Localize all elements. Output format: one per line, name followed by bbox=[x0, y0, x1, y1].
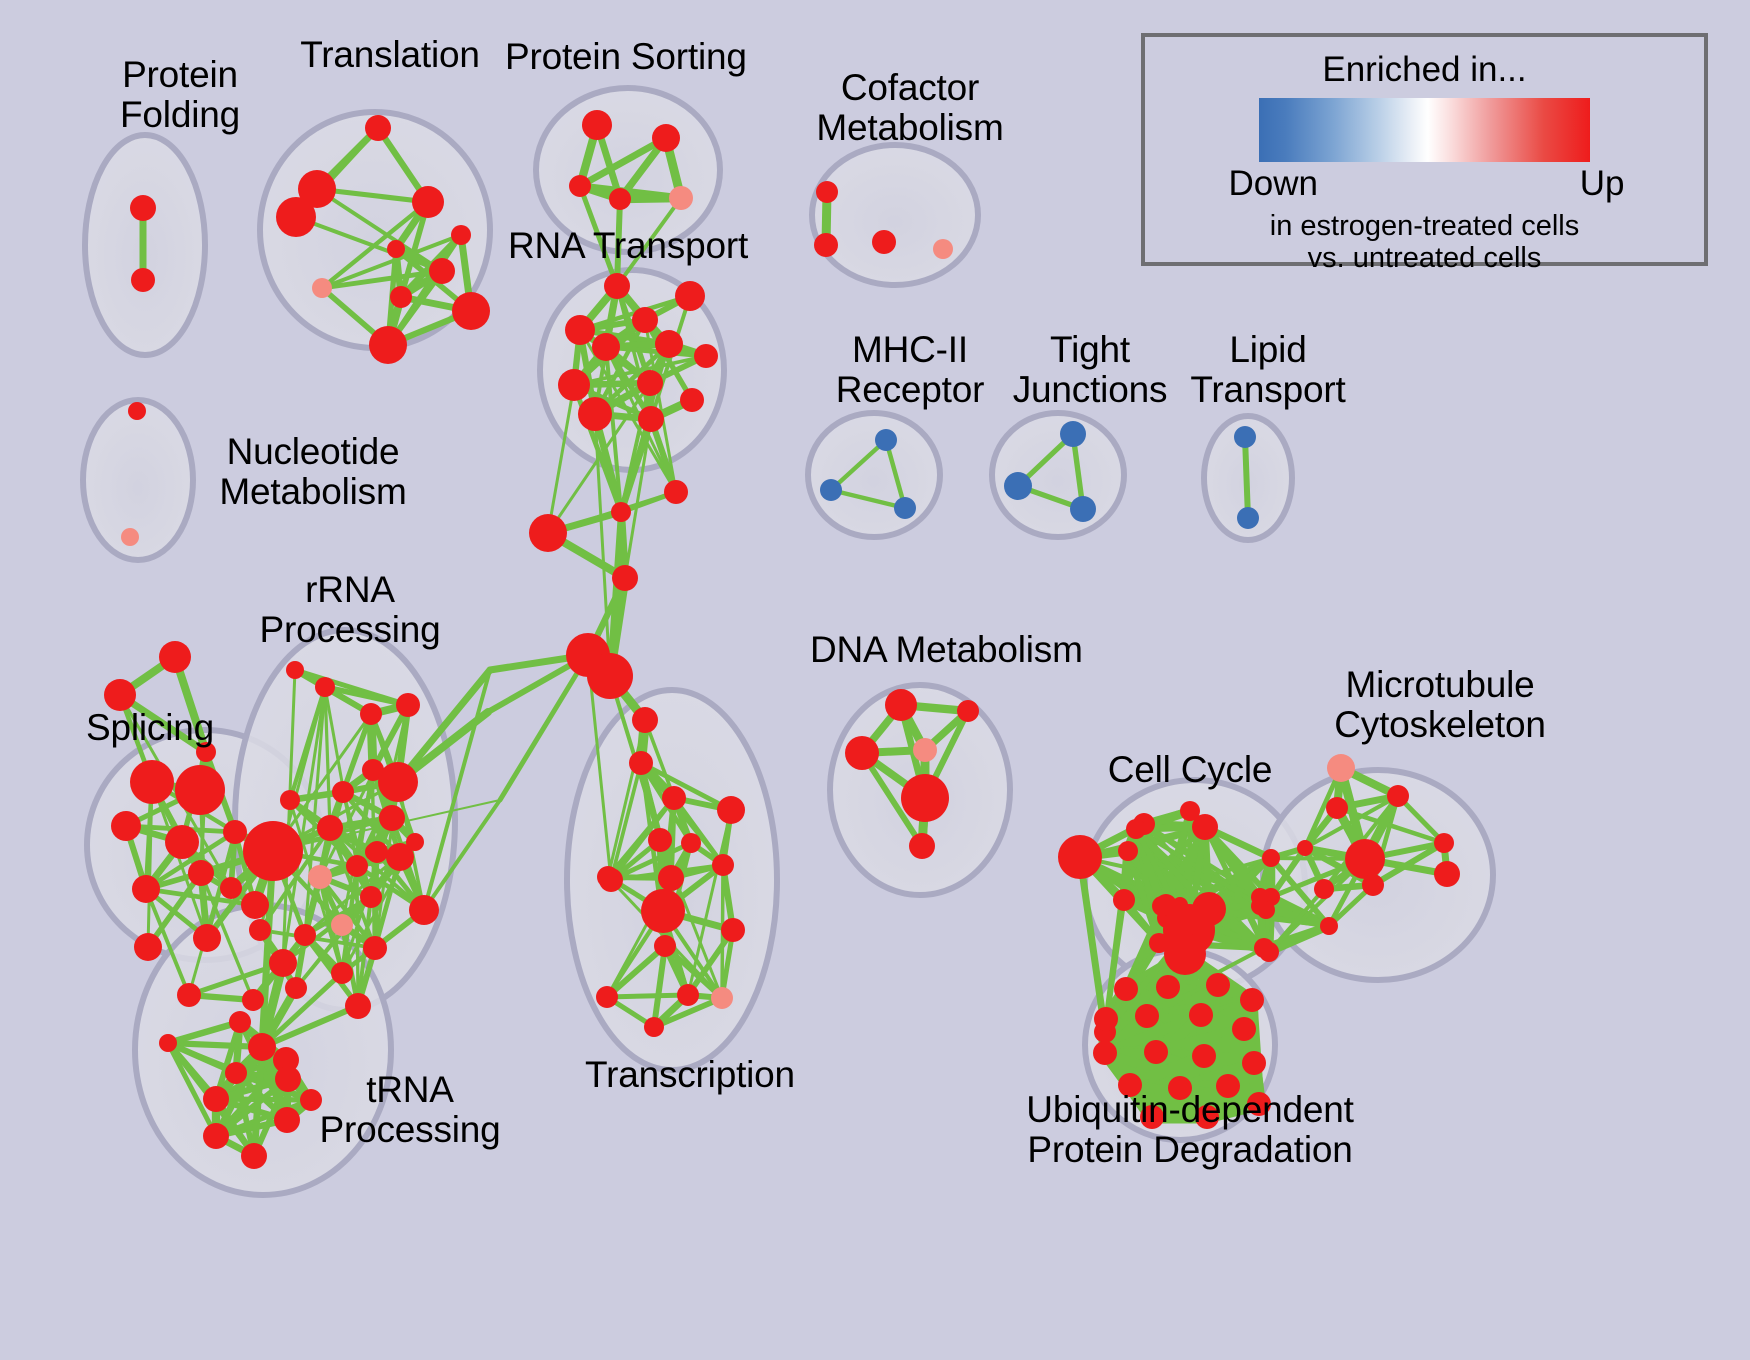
network-node bbox=[312, 278, 332, 298]
network-node bbox=[1314, 879, 1334, 899]
network-node bbox=[379, 805, 405, 831]
network-node bbox=[241, 1143, 267, 1169]
network-node bbox=[664, 480, 688, 504]
network-node bbox=[1247, 1092, 1271, 1116]
network-node bbox=[130, 760, 174, 804]
network-node bbox=[1164, 933, 1206, 975]
network-node bbox=[669, 186, 693, 210]
network-node bbox=[845, 736, 879, 770]
network-node bbox=[1135, 1004, 1159, 1028]
network-node bbox=[229, 1011, 251, 1033]
network-node bbox=[188, 860, 214, 886]
network-node bbox=[286, 661, 304, 679]
network-node bbox=[596, 986, 618, 1008]
cluster-ellipse-cofactor-metabolism bbox=[812, 145, 978, 285]
network-node bbox=[223, 820, 247, 844]
network-node bbox=[177, 983, 201, 1007]
network-node bbox=[193, 924, 221, 952]
network-node bbox=[680, 388, 704, 412]
network-node bbox=[1140, 1105, 1164, 1129]
network-node bbox=[1206, 973, 1230, 997]
network-node bbox=[901, 774, 949, 822]
cluster-ellipse-protein-sorting bbox=[536, 88, 720, 252]
network-node bbox=[165, 825, 199, 859]
network-node bbox=[275, 1066, 301, 1092]
network-node bbox=[909, 833, 935, 859]
network-node bbox=[396, 693, 420, 717]
network-node bbox=[360, 886, 382, 908]
network-node bbox=[1058, 835, 1102, 879]
network-node bbox=[675, 281, 705, 311]
network-node bbox=[1345, 839, 1385, 879]
network-node bbox=[363, 936, 387, 960]
network-node bbox=[957, 700, 979, 722]
network-node bbox=[203, 1086, 229, 1112]
network-node bbox=[1152, 896, 1172, 916]
network-node bbox=[104, 679, 136, 711]
network-node bbox=[365, 115, 391, 141]
network-node bbox=[1262, 849, 1280, 867]
network-node bbox=[315, 677, 335, 697]
network-node bbox=[131, 268, 155, 292]
network-node bbox=[285, 977, 307, 999]
network-node bbox=[243, 821, 303, 881]
network-node bbox=[300, 1089, 322, 1111]
network-node bbox=[249, 919, 271, 941]
network-node bbox=[933, 239, 953, 259]
network-node bbox=[578, 397, 612, 431]
network-node bbox=[111, 811, 141, 841]
network-node bbox=[452, 292, 490, 330]
legend-panel: Enriched in... Down Up in estrogen-treat… bbox=[1141, 33, 1708, 266]
legend-down-label: Down bbox=[1229, 164, 1318, 204]
network-node bbox=[632, 307, 658, 333]
network-node bbox=[1234, 426, 1256, 448]
network-node bbox=[1118, 1073, 1142, 1097]
network-node bbox=[159, 1034, 177, 1052]
network-diagram: Protein FoldingTranslationProtein Sortin… bbox=[0, 0, 1750, 1360]
network-node bbox=[592, 333, 620, 361]
network-node bbox=[1297, 840, 1313, 856]
network-node bbox=[451, 225, 471, 245]
network-node bbox=[1240, 988, 1264, 1012]
network-node bbox=[641, 889, 685, 933]
network-edge bbox=[1245, 437, 1248, 518]
network-node bbox=[1320, 917, 1338, 935]
cluster-ellipse-mhcii-receptor bbox=[808, 413, 940, 537]
network-node bbox=[814, 233, 838, 257]
network-node bbox=[569, 175, 591, 197]
network-edge bbox=[607, 995, 688, 997]
network-node bbox=[378, 762, 418, 802]
network-node bbox=[694, 344, 718, 368]
legend-caption: in estrogen-treated cells vs. untreated … bbox=[1145, 210, 1704, 275]
network-node bbox=[1326, 797, 1348, 819]
network-node bbox=[612, 565, 638, 591]
network-node bbox=[276, 197, 316, 237]
network-node bbox=[331, 914, 353, 936]
network-node bbox=[1060, 421, 1086, 447]
network-node bbox=[1362, 874, 1384, 896]
network-node bbox=[274, 1107, 300, 1133]
network-node bbox=[390, 286, 412, 308]
network-node bbox=[1195, 1105, 1219, 1129]
network-node bbox=[629, 751, 653, 775]
network-node bbox=[913, 738, 937, 762]
network-node bbox=[159, 641, 191, 673]
network-node bbox=[529, 514, 567, 552]
network-node bbox=[644, 1017, 664, 1037]
network-node bbox=[1251, 897, 1269, 915]
network-node bbox=[1327, 754, 1355, 782]
network-node bbox=[346, 855, 368, 877]
network-node bbox=[366, 841, 388, 863]
network-node bbox=[203, 1123, 229, 1149]
network-node bbox=[1192, 814, 1218, 840]
network-node bbox=[717, 796, 745, 824]
network-node bbox=[1118, 841, 1138, 861]
network-node bbox=[1216, 1074, 1240, 1098]
network-node bbox=[1254, 938, 1274, 958]
network-node bbox=[558, 369, 590, 401]
network-node bbox=[677, 984, 699, 1006]
network-node bbox=[1070, 496, 1096, 522]
network-node bbox=[872, 230, 896, 254]
network-node bbox=[409, 895, 439, 925]
network-edge bbox=[617, 199, 620, 286]
network-node bbox=[611, 502, 631, 522]
network-node bbox=[648, 828, 672, 852]
network-node bbox=[331, 962, 353, 984]
network-node bbox=[816, 181, 838, 203]
network-node bbox=[652, 124, 680, 152]
network-node bbox=[1232, 1017, 1256, 1041]
network-node bbox=[1126, 819, 1146, 839]
network-node bbox=[587, 653, 633, 699]
network-node bbox=[345, 993, 371, 1019]
network-node bbox=[1168, 1076, 1192, 1100]
network-node bbox=[132, 875, 160, 903]
network-node bbox=[1387, 785, 1409, 807]
network-node bbox=[662, 786, 686, 810]
network-node bbox=[317, 815, 343, 841]
network-node bbox=[406, 833, 424, 851]
network-node bbox=[1144, 1040, 1168, 1064]
network-node bbox=[1156, 975, 1180, 999]
network-node bbox=[1237, 507, 1259, 529]
network-node bbox=[196, 742, 216, 762]
network-node bbox=[609, 188, 631, 210]
network-node bbox=[654, 935, 676, 957]
network-node bbox=[128, 402, 146, 420]
network-node bbox=[294, 924, 316, 946]
network-node bbox=[387, 240, 405, 258]
network-node bbox=[280, 790, 300, 810]
network-node bbox=[565, 315, 595, 345]
network-node bbox=[1114, 977, 1138, 1001]
network-node bbox=[655, 330, 683, 358]
network-node bbox=[369, 326, 407, 364]
network-node bbox=[241, 891, 269, 919]
network-node bbox=[875, 429, 897, 451]
network-node bbox=[820, 479, 842, 501]
network-node bbox=[721, 918, 745, 942]
network-node bbox=[269, 949, 297, 977]
network-node bbox=[637, 370, 663, 396]
network-node bbox=[130, 195, 156, 221]
legend-up-label: Up bbox=[1580, 164, 1625, 204]
network-node bbox=[1004, 472, 1032, 500]
network-node bbox=[412, 186, 444, 218]
network-node bbox=[604, 273, 630, 299]
legend-color-bar bbox=[1259, 98, 1590, 162]
network-node bbox=[242, 989, 264, 1011]
network-node bbox=[885, 689, 917, 721]
network-node bbox=[582, 110, 612, 140]
network-node bbox=[638, 406, 664, 432]
network-node bbox=[225, 1062, 247, 1084]
network-node bbox=[1093, 1041, 1117, 1065]
network-node bbox=[134, 933, 162, 961]
network-node bbox=[360, 703, 382, 725]
network-node bbox=[1242, 1051, 1266, 1075]
network-node bbox=[658, 865, 684, 891]
network-node bbox=[1189, 1003, 1213, 1027]
network-node bbox=[308, 865, 332, 889]
legend-title: Enriched in... bbox=[1145, 50, 1704, 90]
network-node bbox=[248, 1033, 276, 1061]
network-node bbox=[1434, 861, 1460, 887]
network-node bbox=[175, 765, 225, 815]
network-node bbox=[1434, 833, 1454, 853]
network-node bbox=[632, 707, 658, 733]
network-node bbox=[894, 497, 916, 519]
network-node bbox=[711, 987, 733, 1009]
network-node bbox=[681, 833, 701, 853]
network-node bbox=[220, 877, 242, 899]
network-node bbox=[1094, 1007, 1118, 1031]
network-node bbox=[712, 854, 734, 876]
network-node bbox=[429, 258, 455, 284]
network-node bbox=[599, 868, 623, 892]
network-node bbox=[332, 781, 354, 803]
network-node bbox=[1192, 1044, 1216, 1068]
network-node bbox=[1113, 889, 1135, 911]
network-node bbox=[121, 528, 139, 546]
